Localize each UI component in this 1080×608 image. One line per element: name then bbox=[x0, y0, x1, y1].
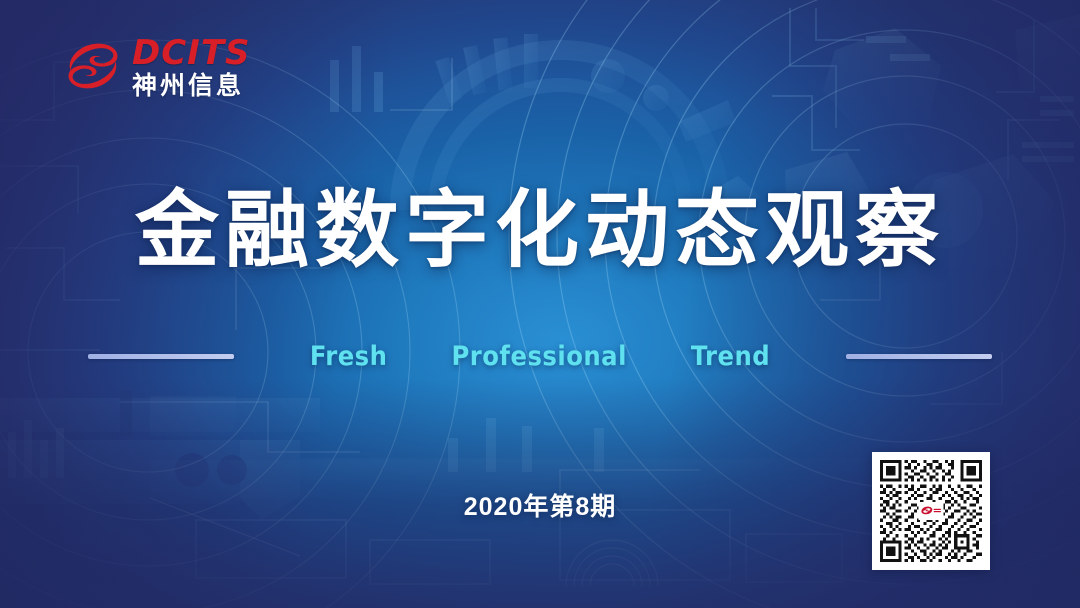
dcits-swirl-icon-small bbox=[920, 504, 942, 518]
tagline-word-professional: Professional bbox=[419, 341, 658, 372]
page-title: 金融数字化动态观察 bbox=[0, 186, 1080, 275]
qr-center-logo bbox=[919, 502, 944, 520]
tagline-rule-right bbox=[846, 354, 992, 359]
qr-code[interactable] bbox=[872, 452, 990, 570]
brand-logo: DCITS 神州信息 bbox=[62, 33, 251, 99]
tagline-word-trend: Trend bbox=[659, 341, 802, 372]
logo-text-en: DCITS bbox=[132, 36, 251, 70]
logo-text-cn: 神州信息 bbox=[132, 74, 251, 99]
tagline-row: Fresh Professional Trend bbox=[0, 338, 1080, 374]
cover-slide: DCITS 神州信息 金融数字化动态观察 Fresh Professional … bbox=[0, 0, 1080, 608]
tagline-rule-left bbox=[88, 354, 234, 359]
dcits-swirl-icon bbox=[62, 35, 124, 97]
tagline-word-fresh: Fresh bbox=[278, 341, 420, 372]
